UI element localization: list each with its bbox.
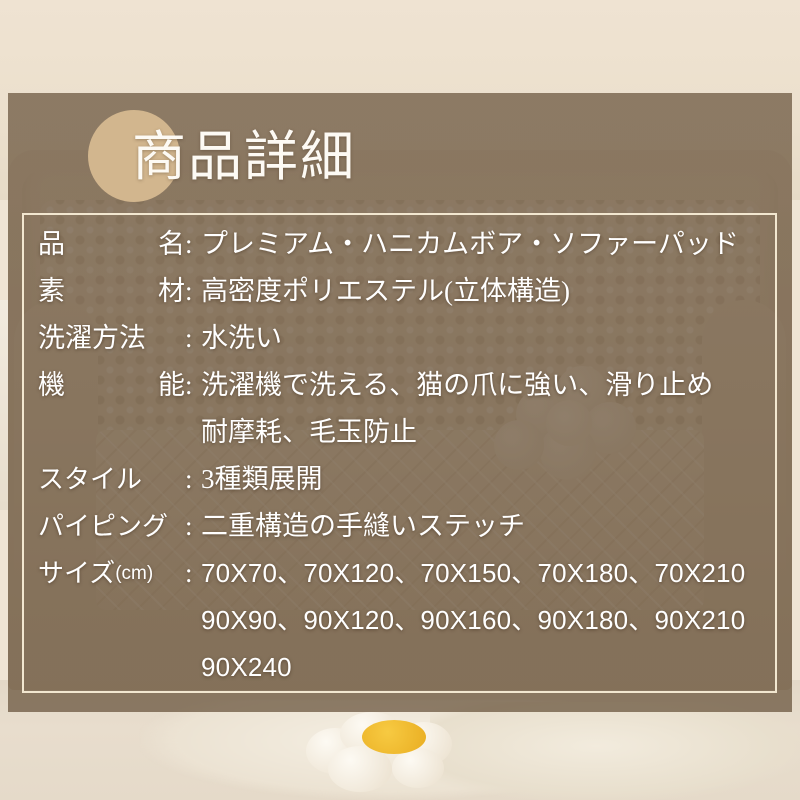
label-char: 機 xyxy=(38,362,65,409)
spec-label-material: 素 材 xyxy=(38,268,185,315)
spec-colon: : xyxy=(185,268,201,315)
spec-colon: : xyxy=(185,550,201,597)
spec-row-piping: パイピング : 二重構造の手縫いステッチ xyxy=(38,503,768,550)
daisy-petal xyxy=(392,748,444,788)
daisy-center xyxy=(362,720,426,754)
spec-value-size-line1: 70X70、70X120、70X150、70X180、70X210 xyxy=(201,550,768,597)
label-char: 能 xyxy=(158,362,185,409)
spec-value-features-line2: 耐摩耗、毛玉防止 xyxy=(201,409,768,456)
spec-value-material: 高密度ポリエステル(立体構造) xyxy=(201,268,768,315)
spec-value-size-line2: 90X90、90X120、90X160、90X180、90X210 xyxy=(201,597,768,644)
photo-shaggy-rug-right xyxy=(430,702,800,800)
spec-row-material: 素 材 : 高密度ポリエステル(立体構造) xyxy=(38,268,768,315)
page-title: 商品詳細 xyxy=(132,128,356,186)
product-detail-banner: 商品詳細 品 名 : プレミアム・ハニカムボア・ソファーパッド 素 材 : 高密… xyxy=(0,0,800,800)
spec-row-wash-method: 洗濯方法 : 水洗い xyxy=(38,315,768,362)
spec-row-size-cont2: 90X240 xyxy=(38,644,768,691)
spec-row-product-name: 品 名 : プレミアム・ハニカムボア・ソファーパッド xyxy=(38,221,768,268)
spec-row-size-cont1: 90X90、90X120、90X160、90X180、90X210 xyxy=(38,597,768,644)
spec-colon: : xyxy=(185,315,201,362)
label-char: サイズ xyxy=(38,550,115,597)
label-char: パイピング xyxy=(38,503,168,550)
spec-label-piping: パイピング xyxy=(38,503,185,550)
label-char: 名 xyxy=(158,221,185,268)
spec-value-piping: 二重構造の手縫いステッチ xyxy=(201,503,768,550)
spec-label-size-unit: (cm) xyxy=(115,550,153,597)
spec-label-style: スタイル xyxy=(38,456,185,503)
label-char: 材 xyxy=(158,268,185,315)
spec-value-features: 洗濯機で洗える、猫の爪に強い、滑り止め xyxy=(201,362,768,409)
spec-value-wash-method: 水洗い xyxy=(201,315,768,362)
spec-row-style: スタイル : 3種類展開 xyxy=(38,456,768,503)
photo-daisy-cushion xyxy=(300,712,480,782)
spec-list: 品 名 : プレミアム・ハニカムボア・ソファーパッド 素 材 : 高密度ポリエス… xyxy=(38,221,768,691)
label-char: 素 xyxy=(38,268,65,315)
spec-label-product-name: 品 名 xyxy=(38,221,185,268)
spec-value-size-line3: 90X240 xyxy=(201,644,768,691)
spec-colon: : xyxy=(185,456,201,503)
spec-label-size: サイズ(cm) xyxy=(38,550,185,597)
spec-colon: : xyxy=(185,221,201,268)
spec-label-wash-method: 洗濯方法 xyxy=(38,315,185,362)
spec-value-product-name: プレミアム・ハニカムボア・ソファーパッド xyxy=(201,221,768,268)
label-char: 品 xyxy=(38,221,65,268)
spec-row-features: 機 能 : 洗濯機で洗える、猫の爪に強い、滑り止め xyxy=(38,362,768,409)
spec-row-size: サイズ(cm) : 70X70、70X120、70X150、70X180、70X… xyxy=(38,550,768,597)
label-char: スタイル xyxy=(38,456,142,503)
spec-value-style: 3種類展開 xyxy=(201,456,768,503)
spec-row-features-cont: 耐摩耗、毛玉防止 xyxy=(38,409,768,456)
spec-label-features: 機 能 xyxy=(38,362,185,409)
label-char: 洗濯方法 xyxy=(38,315,146,362)
spec-colon: : xyxy=(185,503,201,550)
spec-colon: : xyxy=(185,362,201,409)
